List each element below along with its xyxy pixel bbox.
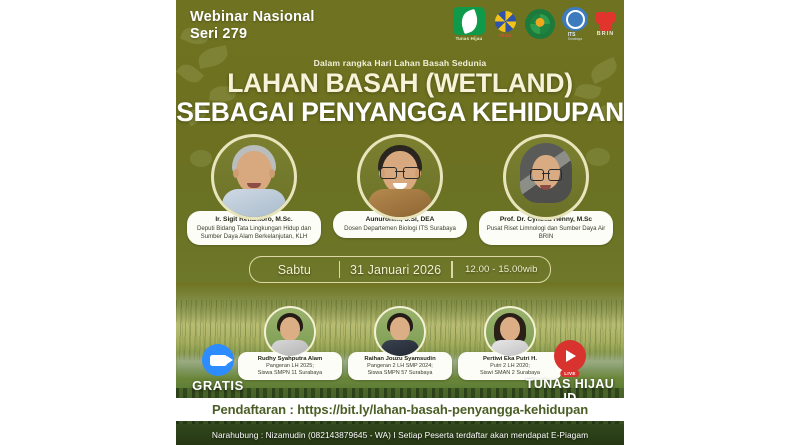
webinar-line-1: Webinar Nasional xyxy=(190,9,315,26)
student-card: Raihan Jouzu Syamsudin Pangeran 2 LH SMP… xyxy=(350,306,450,392)
speaker-portrait xyxy=(503,134,589,220)
tunas-hijau-logo: Tunas Hijau xyxy=(453,7,485,41)
webinar-line-2: Seri 279 xyxy=(190,26,315,43)
schedule-time: 12.00 - 15.00wib xyxy=(453,264,550,275)
schedule-bar: Sabtu 31 Januari 2026 12.00 - 15.00wib xyxy=(249,256,551,283)
student-role-line-1: Pangeran 2 LH SMP 2024; xyxy=(350,363,450,370)
student-portrait xyxy=(264,306,316,358)
speaker-role: Deputi Bidang Tata Lingkungan Hidup dan … xyxy=(191,225,317,240)
free-label: GRATIS xyxy=(182,378,254,393)
zoom-camera-icon xyxy=(202,344,234,376)
student-card: Rudhy Syahputra Alam Pangeran LH 2025; S… xyxy=(240,306,340,392)
live-stream-badge: LIVE TUNAS HIJAU ID xyxy=(522,340,618,405)
its-logo-subcaption: Surabaya xyxy=(568,37,583,41)
speaker-portrait xyxy=(211,134,297,220)
fkss-logo: FKSS xyxy=(492,8,518,40)
its-logo: ITS Surabaya xyxy=(562,7,588,41)
speaker-portrait xyxy=(357,134,443,220)
student-info: Raihan Jouzu Syamsudin Pangeran 2 LH SMP… xyxy=(348,352,452,380)
event-eyebrow: Dalam rangka Hari Lahan Basah Sedunia xyxy=(176,58,624,68)
event-title-line-1: LAHAN BASAH (WETLAND) xyxy=(176,68,624,99)
speaker-card: Ir. Sigit Reliantoro, M.Sc. Deputi Bidan… xyxy=(189,134,319,246)
organizer-logos: Tunas Hijau FKSS ITS Surabaya BRIN xyxy=(453,7,616,41)
event-title-line-2: SEBAGAI PENYANGGA KEHIDUPAN xyxy=(176,97,624,128)
student-role-line-2: Siswa SMPN 57 Surabaya xyxy=(350,370,450,377)
speaker-card: Prof. Dr. Cynthia Henny, M.Sc Pusat Rise… xyxy=(481,134,611,246)
speaker-role: Dosen Departemen Biologi ITS Surabaya xyxy=(337,225,463,233)
brin-logo-caption: BRIN xyxy=(597,31,615,37)
speaker-role: Pusat Riset Limnologi dan Sumber Daya Ai… xyxy=(483,225,609,240)
student-name: Rudhy Syahputra Alam xyxy=(240,355,340,363)
live-indicator: LIVE xyxy=(560,370,579,377)
speakers-row: Ir. Sigit Reliantoro, M.Sc. Deputi Bidan… xyxy=(176,134,624,246)
registration-link[interactable]: Pendaftaran : https://bit.ly/lahan-basah… xyxy=(176,398,624,421)
speaker-card: Aunurohim, S.Si, DEA Dosen Departemen Bi… xyxy=(335,134,465,246)
schedule-day: Sabtu xyxy=(250,263,339,277)
webinar-poster: Webinar Nasional Seri 279 Tunas Hijau FK… xyxy=(176,0,624,445)
student-role-line-1: Pangeran LH 2025; xyxy=(240,363,340,370)
student-role-line-2: Siswa SMPN 11 Surabaya xyxy=(240,370,340,377)
youtube-play-icon: LIVE xyxy=(554,340,586,372)
schedule-date: 31 Januari 2026 xyxy=(340,263,451,277)
fkss-logo-caption: FKSS xyxy=(499,33,512,38)
student-portrait xyxy=(374,306,426,358)
student-name: Raihan Jouzu Syamsudin xyxy=(350,355,450,363)
brin-logo: BRIN xyxy=(595,7,616,41)
poster-header: Webinar Nasional Seri 279 Tunas Hijau FK… xyxy=(176,0,624,58)
free-access-badge: GRATIS xyxy=(182,344,254,393)
webinar-series-title: Webinar Nasional Seri 279 xyxy=(190,9,315,43)
contact-info-bar: Narahubung : Nizamudin (082143879645 - W… xyxy=(176,424,624,445)
tunas-hijau-logo-caption: Tunas Hijau xyxy=(456,36,483,41)
adiwiyata-logo xyxy=(525,7,555,41)
